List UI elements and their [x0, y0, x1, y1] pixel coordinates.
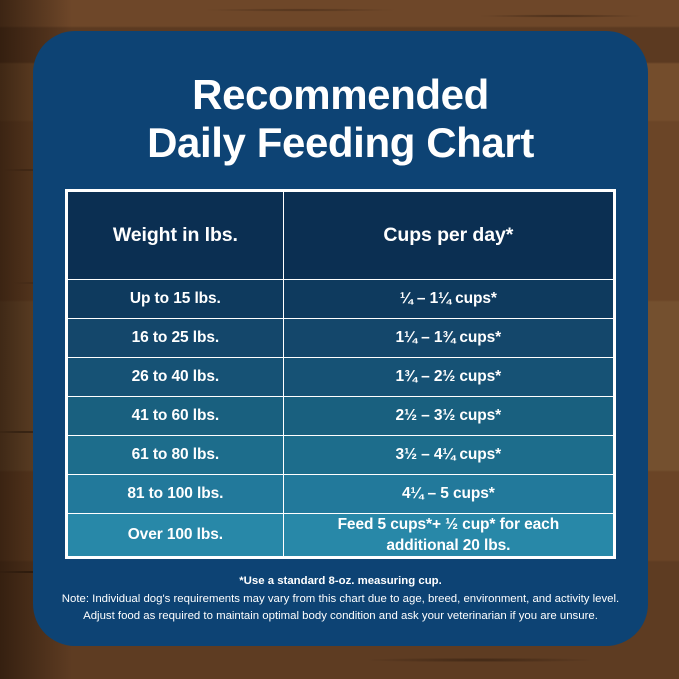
table-row: 16 to 25 lbs. 1¼ – 1¾ cups* — [68, 318, 614, 357]
cell-cups-line-1: Feed 5 cups*+ ½ cup* for each — [338, 516, 560, 533]
table-row: 61 to 80 lbs. 3½ – 4¼ cups* — [68, 435, 614, 474]
cell-cups-line-2: additional 20 lbs. — [386, 537, 510, 554]
footnotes: *Use a standard 8-oz. measuring cup. Not… — [51, 573, 630, 626]
feeding-chart-card: Recommended Daily Feeding Chart Weight i… — [33, 31, 648, 646]
feeding-table: Weight in lbs. Cups per day* Up to 15 lb… — [67, 191, 614, 557]
cell-cups: 4¼ – 5 cups* — [283, 474, 613, 513]
cell-weight: 81 to 100 lbs. — [68, 474, 284, 513]
cell-cups: Feed 5 cups*+ ½ cup* for each additional… — [283, 513, 613, 556]
cell-cups: ¼ – 1¼ cups* — [283, 279, 613, 318]
column-header-cups: Cups per day* — [283, 191, 613, 279]
feeding-table-container: Weight in lbs. Cups per day* Up to 15 lb… — [65, 189, 616, 559]
feeding-table-body: Up to 15 lbs. ¼ – 1¼ cups* 16 to 25 lbs.… — [68, 279, 614, 556]
table-row: Over 100 lbs. Feed 5 cups*+ ½ cup* for e… — [68, 513, 614, 556]
cell-cups: 1¼ – 1¾ cups* — [283, 318, 613, 357]
table-row: 26 to 40 lbs. 1¾ – 2½ cups* — [68, 357, 614, 396]
footnote-adjust-food: Adjust food as required to maintain opti… — [51, 608, 630, 626]
cell-weight: Up to 15 lbs. — [68, 279, 284, 318]
table-row: 41 to 60 lbs. 2½ – 3½ cups* — [68, 396, 614, 435]
page-title-line-2: Daily Feeding Chart — [33, 119, 648, 167]
cell-cups: 2½ – 3½ cups* — [283, 396, 613, 435]
cell-weight: 61 to 80 lbs. — [68, 435, 284, 474]
cell-weight: 41 to 60 lbs. — [68, 396, 284, 435]
table-row: 81 to 100 lbs. 4¼ – 5 cups* — [68, 474, 614, 513]
table-row: Up to 15 lbs. ¼ – 1¼ cups* — [68, 279, 614, 318]
cell-weight: Over 100 lbs. — [68, 513, 284, 556]
column-header-weight: Weight in lbs. — [68, 191, 284, 279]
table-header-row: Weight in lbs. Cups per day* — [68, 191, 614, 279]
footnote-measuring-cup: *Use a standard 8-oz. measuring cup. — [51, 573, 630, 591]
cell-weight: 16 to 25 lbs. — [68, 318, 284, 357]
page-title: Recommended Daily Feeding Chart — [33, 71, 648, 167]
cell-cups: 1¾ – 2½ cups* — [283, 357, 613, 396]
page-title-line-1: Recommended — [33, 71, 648, 119]
cell-cups: 3½ – 4¼ cups* — [283, 435, 613, 474]
footnote-individual-requirements: Note: Individual dog's requirements may … — [51, 591, 630, 609]
feeding-table-header: Weight in lbs. Cups per day* — [68, 191, 614, 279]
cell-weight: 26 to 40 lbs. — [68, 357, 284, 396]
